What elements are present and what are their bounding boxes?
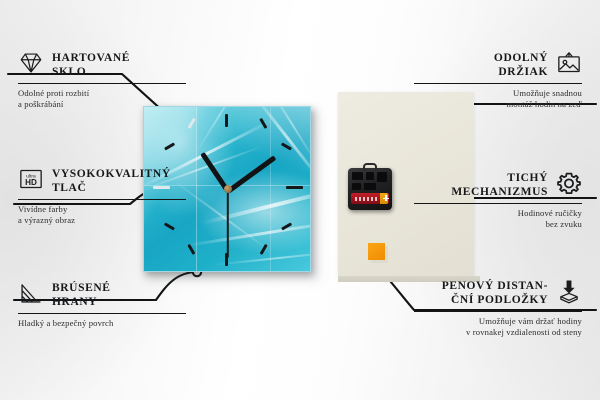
mechanism-hanger	[363, 163, 377, 171]
feature-description: Vivídne farby a výrazný obraz	[18, 204, 186, 226]
feature-hq-print: ultra HD VYSOKOKVALITNÝ TLAČ Vivídne far…	[18, 166, 186, 226]
divider	[18, 313, 186, 314]
feature-silent-mechanism: TICHÝ MECHANIZMUS Hodinové ručičky bez z…	[414, 170, 582, 230]
battery-plus-terminal	[380, 193, 388, 204]
glass-seam	[196, 107, 197, 272]
feature-beveled-edges: BRÚSENÉ HRANY Hladký a bezpečný povrch	[18, 280, 186, 329]
ultra-hd-icon: ultra HD	[18, 166, 44, 192]
feature-title: HARTOVANÉ SKLO	[52, 50, 130, 79]
foam-spacer-pad	[368, 243, 385, 260]
foam-spacer-icon	[556, 278, 582, 304]
feature-tempered-glass: HARTOVANÉ SKLO Odolné proti rozbití a po…	[18, 50, 186, 110]
clock-tick-3	[286, 186, 303, 189]
feature-durable-holder: ODOLNÝ DRŽIAK Umožňuje snadnou montáž ho…	[414, 50, 582, 110]
picture-hanger-icon	[556, 50, 582, 76]
feature-description: Odolné proti rozbití a poškrábání	[18, 88, 186, 110]
clock-minute-hand	[227, 155, 277, 193]
feature-foam-spacers: PENOVÝ DISTAN- ČNÍ PODLOŽKY Umožňuje vám…	[414, 278, 582, 338]
mechanism-detail	[352, 172, 363, 180]
divider	[18, 199, 186, 200]
feature-description: Hladký a bezpečný povrch	[18, 318, 186, 329]
divider	[18, 83, 186, 84]
infographic-canvas: HARTOVANÉ SKLO Odolné proti rozbití a po…	[0, 0, 600, 400]
mechanism-battery	[351, 193, 389, 204]
divider	[414, 311, 582, 312]
mechanism-detail	[366, 172, 374, 180]
feature-title: VYSOKOKVALITNÝ TLAČ	[52, 166, 171, 195]
clock-second-hand	[227, 190, 229, 258]
battery-label	[355, 197, 377, 201]
feature-description: Umožňuje vám držať hodiny v rovnakej vzd…	[414, 316, 582, 338]
feature-title: PENOVÝ DISTAN- ČNÍ PODLOŽKY	[442, 278, 548, 307]
feature-description: Hodinové ručičky bez zvuku	[414, 208, 582, 230]
gear-icon	[556, 170, 582, 196]
svg-text:HD: HD	[25, 178, 37, 187]
diamond-icon	[18, 50, 44, 76]
divider	[414, 83, 582, 84]
clock-tick-12	[225, 114, 228, 127]
feature-title: BRÚSENÉ HRANY	[52, 280, 111, 309]
mechanism-detail	[377, 172, 387, 182]
divider	[414, 203, 582, 204]
mechanism-detail	[364, 183, 376, 190]
feather-streak	[202, 185, 311, 225]
beveled-edge-icon	[18, 280, 44, 306]
feature-title: ODOLNÝ DRŽIAK	[494, 50, 548, 79]
feature-description: Umožňuje snadnou montáž hodin na zeď	[414, 88, 582, 110]
feature-title: TICHÝ MECHANIZMUS	[451, 170, 548, 199]
clock-center-cap	[224, 185, 232, 193]
glass-seam	[270, 107, 271, 272]
clock-mechanism	[348, 168, 392, 210]
mechanism-detail	[352, 183, 361, 190]
